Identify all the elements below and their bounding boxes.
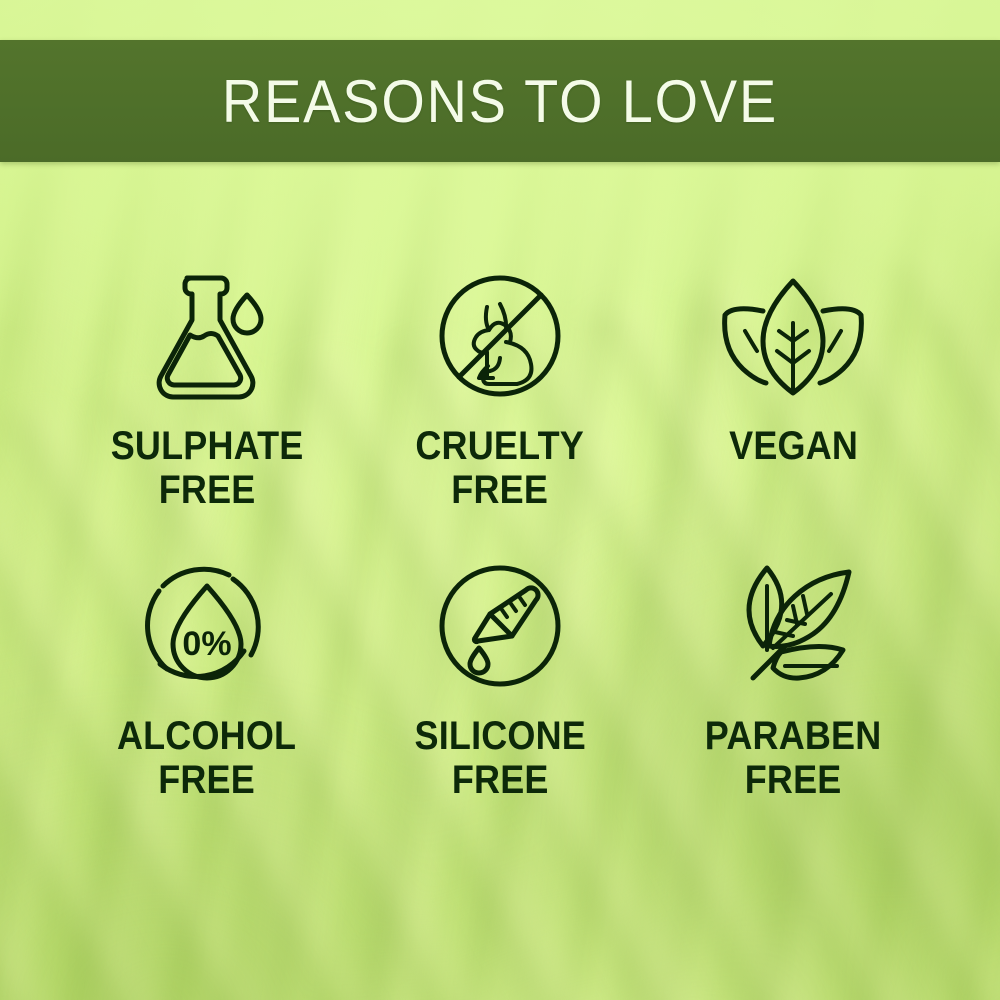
feature-label-line2: FREE [705, 758, 882, 802]
flask-droplet-icon [141, 262, 273, 410]
feature-label-line1: SULPHATE [110, 424, 303, 468]
leaf-sprig-icon [721, 552, 865, 700]
feature-label-line2: FREE [117, 758, 296, 802]
reasons-to-love-poster: REASONS TO LOVE SULPHATE FREE [0, 0, 1000, 1000]
feature-label: CRUELTY FREE [416, 424, 585, 512]
feature-item-cruelty-free: CRUELTY FREE [353, 262, 646, 552]
feature-item-vegan: VEGAN [647, 262, 940, 552]
header-band: REASONS TO LOVE [0, 40, 1000, 162]
feature-label-line2: FREE [110, 468, 303, 512]
feature-label-line1: PARABEN [705, 714, 882, 758]
feature-label-line1: CRUELTY [416, 424, 585, 468]
feature-label: SULPHATE FREE [110, 424, 303, 512]
feature-item-silicone-free: SILICONE FREE [353, 552, 646, 842]
feature-item-sulphate-free: SULPHATE FREE [60, 262, 353, 552]
feature-label-line1: ALCOHOL [117, 714, 296, 758]
feature-label-line1: SILICONE [414, 714, 585, 758]
three-leaves-icon [723, 262, 863, 410]
zero-percent-droplet-icon: 0% [137, 552, 277, 700]
feature-item-alcohol-free: 0% ALCOHOL FREE [60, 552, 353, 842]
feature-label-line2: FREE [414, 758, 585, 802]
features-grid: SULPHATE FREE CRUELTY FREE [60, 262, 940, 842]
feature-item-paraben-free: PARABEN FREE [647, 552, 940, 842]
feature-label: PARABEN FREE [705, 714, 882, 802]
feature-label-line2: FREE [416, 468, 585, 512]
feature-label: VEGAN [729, 424, 858, 468]
droplet-zero-percent-text: 0% [182, 625, 231, 663]
feature-label: SILICONE FREE [414, 714, 585, 802]
feature-label: ALCOHOL FREE [117, 714, 296, 802]
no-animal-testing-rabbit-icon [430, 262, 570, 410]
page-title: REASONS TO LOVE [222, 67, 778, 136]
feature-label-line1: VEGAN [729, 424, 858, 468]
dropper-pipette-circle-icon [430, 552, 570, 700]
